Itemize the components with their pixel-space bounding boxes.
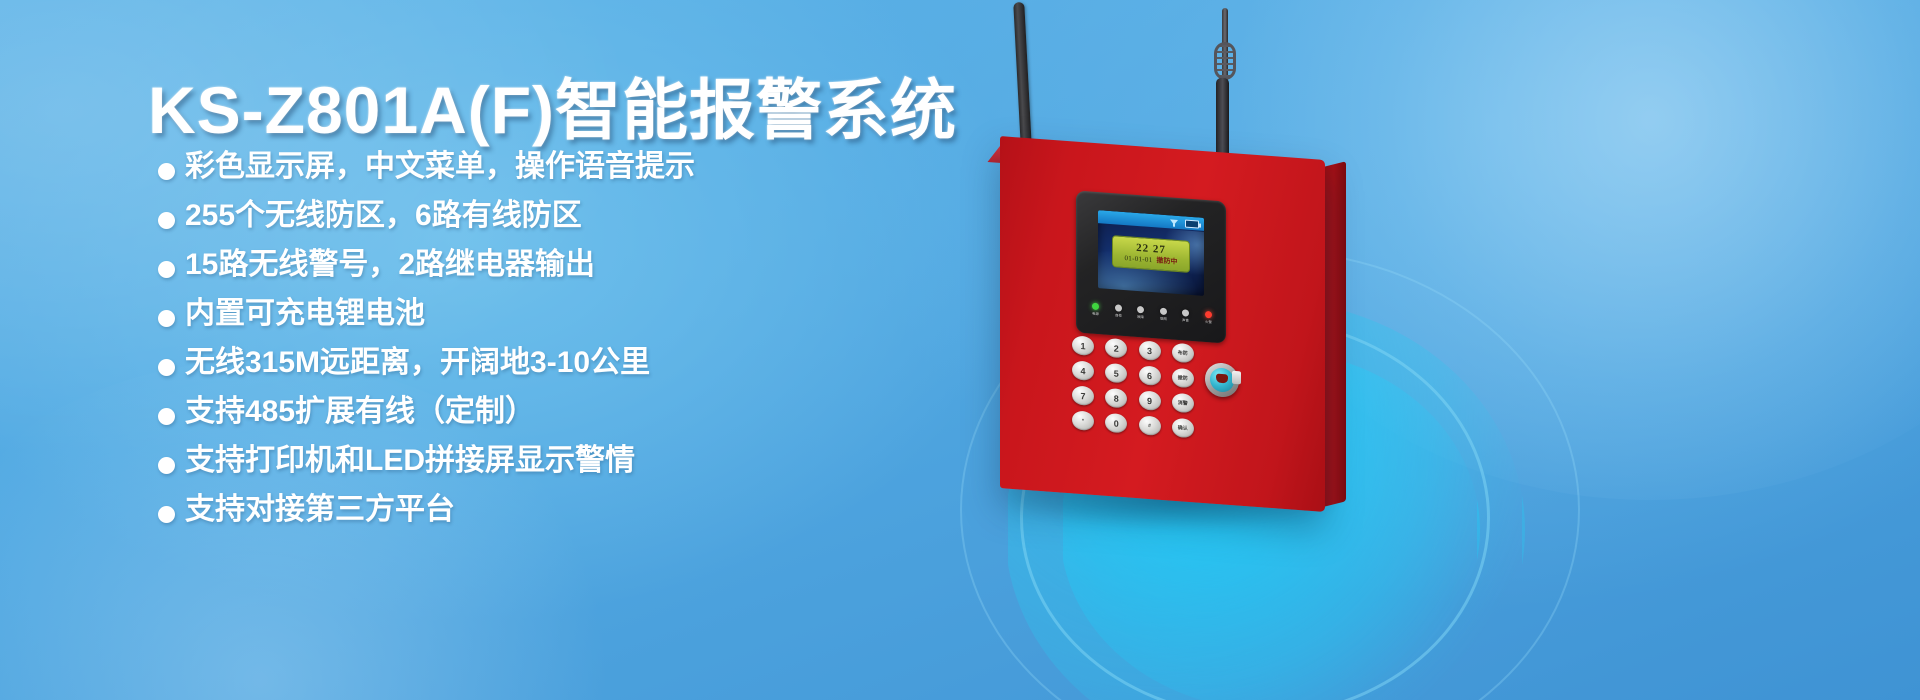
keypad-key-clear-alarm[interactable]: 消警 <box>1172 393 1194 414</box>
led-label: 火警 <box>1205 320 1212 325</box>
lcd-display: 22 27 01-01-01 撤防中 <box>1098 210 1204 296</box>
keypad-key-hash[interactable]: # <box>1139 415 1161 436</box>
feature-item: 内置可充电锂电池 <box>158 299 978 329</box>
bullet-icon <box>158 408 175 425</box>
led-label: 故障 <box>1137 315 1144 320</box>
feature-item: 支持485扩展有线（定制） <box>158 397 978 427</box>
antenna-right-coil <box>1214 42 1236 80</box>
keypad-key-7[interactable]: 7 <box>1072 385 1094 406</box>
feature-item: 15路无线警号，2路继电器输出 <box>158 250 978 280</box>
keypad-key-8[interactable]: 8 <box>1105 388 1127 409</box>
lock-keyhole-icon <box>1216 374 1228 384</box>
keypad-key-1[interactable]: 1 <box>1072 335 1094 356</box>
led-lamp-sound <box>1182 309 1189 317</box>
feature-label: 无线315M远距离，开阔地3-10公里 <box>185 348 650 378</box>
feature-label: 255个无线防区，6路有线防区 <box>185 201 582 231</box>
led-indicator: 故障 <box>1137 306 1144 321</box>
led-lamp-network <box>1160 308 1167 316</box>
led-indicator: 声音 <box>1182 309 1189 324</box>
led-indicator: 电源 <box>1092 303 1099 318</box>
bullet-icon <box>158 261 175 278</box>
led-indicator: 火警 <box>1205 311 1212 326</box>
lcd-date: 01-01-01 <box>1124 255 1152 264</box>
keypad-key-2[interactable]: 2 <box>1105 338 1127 359</box>
feature-item: 无线315M远距离，开阔地3-10公里 <box>158 348 978 378</box>
bullet-icon <box>158 212 175 229</box>
led-label: 电源 <box>1092 312 1099 317</box>
battery-icon <box>1185 219 1199 228</box>
bullet-icon <box>158 359 175 376</box>
antenna-right-body <box>1216 78 1229 160</box>
keypad-key-confirm[interactable]: 确认 <box>1172 418 1194 439</box>
keypad-key-9[interactable]: 9 <box>1139 390 1161 411</box>
keypad-key-3[interactable]: 3 <box>1139 340 1161 361</box>
feature-label: 支持对接第三方平台 <box>185 495 455 525</box>
bullet-icon <box>158 310 175 327</box>
banner-stage: KS-Z801A(F)智能报警系统 彩色显示屏，中文菜单，操作语音提示 255个… <box>0 0 1920 700</box>
lcd-info-panel: 22 27 01-01-01 撤防中 <box>1112 235 1190 273</box>
led-indicator: 自检 <box>1115 304 1122 319</box>
feature-label: 支持485扩展有线（定制） <box>185 397 535 427</box>
led-label: 联网 <box>1160 317 1167 322</box>
lcd-time: 22 27 <box>1136 243 1166 256</box>
led-label: 声音 <box>1183 318 1190 323</box>
feature-label: 支持打印机和LED拼接屏显示警情 <box>185 446 635 476</box>
feature-label: 15路无线警号，2路继电器输出 <box>185 250 595 280</box>
bullet-icon <box>158 506 175 523</box>
lcd-mode-status: 撤防中 <box>1157 257 1178 266</box>
led-indicator: 联网 <box>1160 308 1167 323</box>
product-title: KS-Z801A(F)智能报警系统 <box>148 57 957 153</box>
keypad-key-disarm[interactable]: 撤防 <box>1172 368 1194 389</box>
keypad-key-0[interactable]: 0 <box>1105 413 1127 434</box>
feature-list: 彩色显示屏，中文菜单，操作语音提示 255个无线防区，6路有线防区 15路无线警… <box>158 152 978 544</box>
feature-item: 支持打印机和LED拼接屏显示警情 <box>158 446 978 476</box>
lock-cylinder[interactable] <box>1205 362 1239 398</box>
led-lamp-selftest <box>1115 304 1122 312</box>
lcd-subline: 01-01-01 撤防中 <box>1124 255 1177 266</box>
keypad-key-star[interactable]: * <box>1072 410 1094 431</box>
feature-item: 255个无线防区，6路有线防区 <box>158 201 978 231</box>
banner-content: KS-Z801A(F)智能报警系统 彩色显示屏，中文菜单，操作语音提示 255个… <box>0 0 1000 700</box>
led-lamp-fire-alarm <box>1205 311 1212 319</box>
led-lamp-power <box>1092 303 1099 311</box>
signal-icon <box>1170 218 1178 227</box>
lock-latch-tab <box>1232 371 1241 385</box>
keypad[interactable]: 1 2 3 布防 4 5 6 撤防 7 8 9 消警 * 0 # 确认 <box>1072 335 1198 438</box>
feature-label: 内置可充电锂电池 <box>185 299 425 329</box>
keypad-key-4[interactable]: 4 <box>1072 360 1094 381</box>
feature-item: 彩色显示屏，中文菜单，操作语音提示 <box>158 152 978 182</box>
keypad-key-5[interactable]: 5 <box>1105 363 1127 384</box>
led-lamp-fault <box>1137 306 1144 314</box>
bullet-icon <box>158 457 175 474</box>
feature-label: 彩色显示屏，中文菜单，操作语音提示 <box>185 152 695 182</box>
keypad-key-6[interactable]: 6 <box>1139 365 1161 386</box>
led-label: 自检 <box>1115 313 1122 318</box>
bullet-icon <box>158 163 175 180</box>
keypad-key-arm[interactable]: 布防 <box>1172 343 1194 364</box>
feature-item: 支持对接第三方平台 <box>158 495 978 525</box>
